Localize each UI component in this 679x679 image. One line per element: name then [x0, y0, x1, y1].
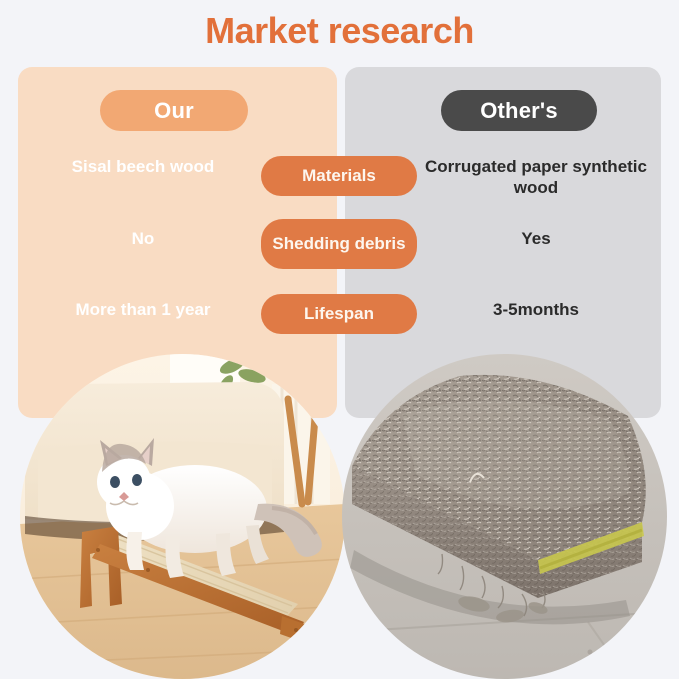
our-value-shedding-debris: No — [18, 228, 268, 249]
cat-on-wooden-ramp-scratcher-photo — [20, 354, 345, 679]
our-value-materials: Sisal beech wood — [18, 156, 268, 177]
our-column-badge: Our — [100, 90, 248, 131]
shredded-cardboard-scratcher-photo — [342, 354, 667, 679]
our-value-lifespan: More than 1 year — [18, 299, 268, 320]
feature-label-shedding-debris: Shedding debris — [261, 219, 417, 269]
other-value-shedding-debris: Yes — [411, 228, 661, 249]
other-value-materials: Corrugated paper synthetic wood — [411, 156, 661, 199]
page-title: Market research — [0, 10, 679, 52]
other-value-lifespan: 3-5months — [411, 299, 661, 320]
feature-label-lifespan: Lifespan — [261, 294, 417, 334]
feature-label-materials: Materials — [261, 156, 417, 196]
other-column-badge: Other's — [441, 90, 597, 131]
